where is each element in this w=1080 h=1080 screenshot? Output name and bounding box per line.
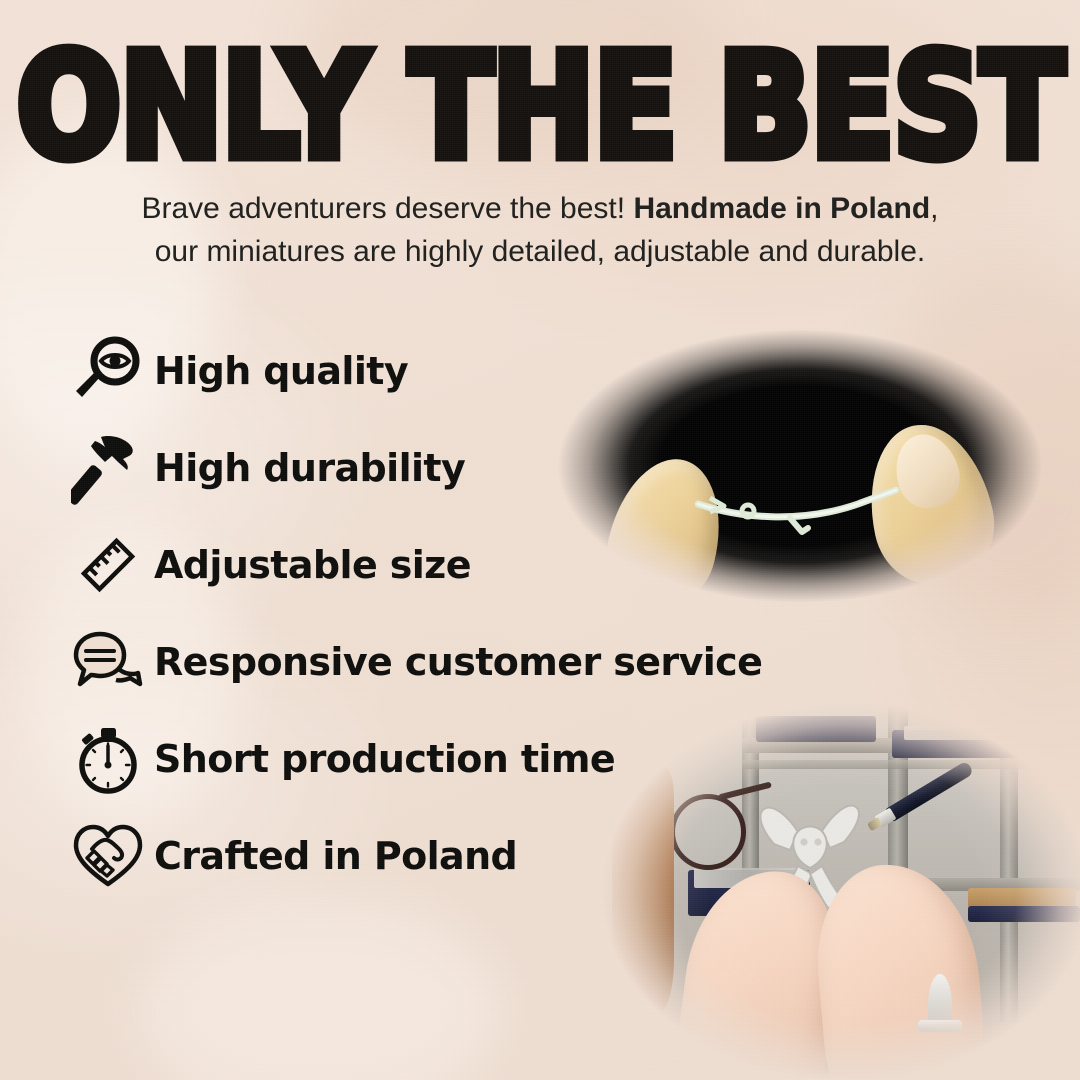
handshake-heart-icon [62, 816, 154, 896]
feature-item: Responsive customer service [62, 613, 792, 710]
subtitle: Brave adventurers deserve the best! Hand… [0, 188, 1080, 273]
feature-label: Short production time [154, 737, 615, 781]
page-title: ONLY THE BEST [0, 34, 1080, 178]
stopwatch-icon [62, 719, 154, 799]
paper-blotch [140, 900, 500, 1080]
poster-canvas: ONLY THE BEST Brave adventurers deserve … [0, 0, 1080, 1080]
subtitle-line-1: Brave adventurers deserve the best! Hand… [0, 188, 1080, 231]
subtitle-tail: , [930, 192, 938, 225]
miniature-tray [756, 716, 876, 742]
flexible-miniature-photo [540, 316, 1060, 616]
ruler-icon [62, 525, 154, 605]
feature-label: High durability [154, 446, 465, 490]
eyeglasses [670, 794, 746, 870]
miniature-tray [968, 906, 1080, 922]
torn-photo-edge [612, 764, 674, 1016]
hammer-icon [62, 428, 154, 508]
feature-label: Adjustable size [154, 543, 471, 587]
shelf-board [742, 760, 1080, 769]
subtitle-highlight: Handmade in Poland [633, 192, 930, 225]
feature-label: Crafted in Poland [154, 834, 517, 878]
miniature-base [918, 1020, 962, 1032]
miniature-pieces [904, 726, 1064, 740]
chat-bubbles-icon [62, 622, 154, 702]
subtitle-line-2: our miniatures are highly detailed, adju… [0, 231, 1080, 274]
feature-label: High quality [154, 349, 408, 393]
workshop-painting-photo [592, 702, 1080, 1080]
magnifier-eye-icon [62, 331, 154, 411]
bendable-miniature-part [690, 484, 920, 536]
feature-label: Responsive customer service [154, 640, 762, 684]
subtitle-lead: Brave adventurers deserve the best! [141, 192, 633, 225]
